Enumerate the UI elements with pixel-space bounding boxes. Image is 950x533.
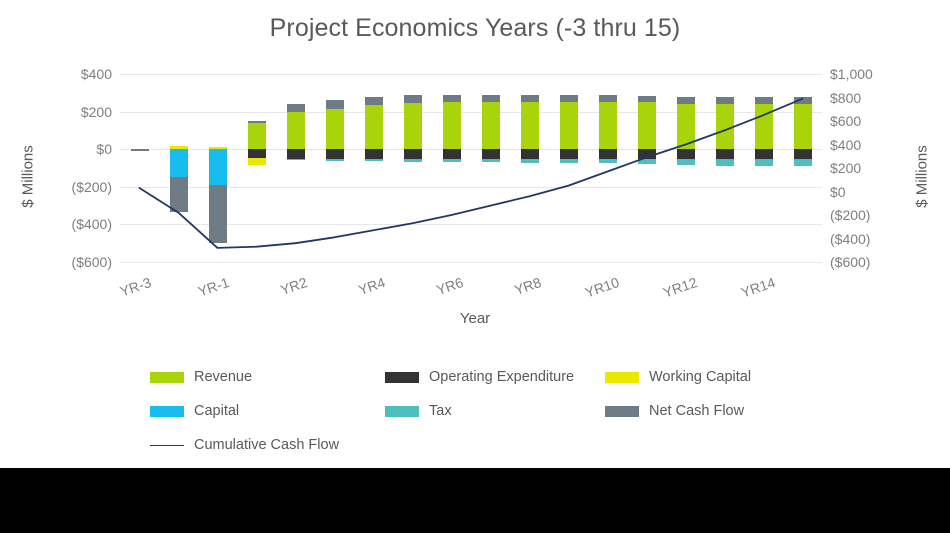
legend-color-swatch <box>385 372 419 383</box>
cumulative-cash-flow-line <box>120 74 822 262</box>
legend-label: Working Capital <box>649 369 751 385</box>
y-axis-right-title: $ Millions <box>914 127 931 227</box>
slide-canvas: Project Economics Years (-3 thru 15) $ M… <box>0 0 950 533</box>
y-axis-left-tick-label: $0 <box>26 142 112 156</box>
legend-item[interactable]: Tax <box>385 394 452 428</box>
letterbox-bar <box>0 468 950 533</box>
legend-item[interactable]: Capital <box>150 394 239 428</box>
x-axis-tick-label: YR8 <box>492 274 543 305</box>
y-axis-left-tick-label: ($600) <box>26 255 112 269</box>
legend-label: Tax <box>429 403 452 419</box>
page-title: Project Economics Years (-3 thru 15) <box>0 14 950 43</box>
chart-legend: RevenueOperating ExpenditureWorking Capi… <box>150 360 810 462</box>
x-axis-tick-label: YR6 <box>414 274 465 305</box>
legend-row: RevenueOperating ExpenditureWorking Capi… <box>150 360 810 394</box>
plot-area <box>120 74 822 262</box>
y-axis-right-tick-label: $400 <box>830 138 916 152</box>
legend-label: Operating Expenditure <box>429 369 574 385</box>
y-axis-right-tick-label: $1,000 <box>830 67 916 81</box>
x-axis-tick-label: YR14 <box>726 274 777 305</box>
legend-color-swatch <box>150 406 184 417</box>
chart-slide: Project Economics Years (-3 thru 15) $ M… <box>0 0 950 468</box>
y-axis-left-tick-label: ($200) <box>26 180 112 194</box>
y-axis-left-tick-label: $200 <box>26 105 112 119</box>
gridline <box>120 262 822 263</box>
x-axis-tick-label: YR10 <box>570 274 621 305</box>
x-axis-title: Year <box>0 310 950 327</box>
legend-color-swatch <box>385 406 419 417</box>
legend-color-swatch <box>605 372 639 383</box>
legend-color-swatch <box>150 372 184 383</box>
y-axis-right-tick-label: $0 <box>830 185 916 199</box>
y-axis-right-tick-label: ($600) <box>830 255 916 269</box>
legend-color-swatch <box>605 406 639 417</box>
x-axis-tick-label: YR2 <box>258 274 309 305</box>
legend-item[interactable]: Working Capital <box>605 360 751 394</box>
y-axis-right-tick-label: $200 <box>830 161 916 175</box>
legend-item[interactable]: Operating Expenditure <box>385 360 574 394</box>
y-axis-left-tick-label: ($400) <box>26 217 112 231</box>
legend-label: Net Cash Flow <box>649 403 744 419</box>
x-axis-tick-label: YR4 <box>336 274 387 305</box>
legend-row: CapitalTaxNet Cash Flow <box>150 394 810 428</box>
legend-label: Capital <box>194 403 239 419</box>
x-axis-tick-label: YR12 <box>648 274 699 305</box>
y-axis-right-tick-label: ($400) <box>830 232 916 246</box>
y-axis-right-tick-label: ($200) <box>830 208 916 222</box>
legend-item[interactable]: Net Cash Flow <box>605 394 744 428</box>
x-axis-tick-label: YR-1 <box>180 274 231 305</box>
legend-item[interactable]: Cumulative Cash Flow <box>150 428 339 462</box>
legend-row: Cumulative Cash Flow <box>150 428 810 462</box>
y-axis-right-tick-label: $600 <box>830 114 916 128</box>
legend-label: Revenue <box>194 369 252 385</box>
legend-item[interactable]: Revenue <box>150 360 252 394</box>
x-axis-tick-label: YR-3 <box>102 274 153 305</box>
y-axis-right-tick-label: $800 <box>830 91 916 105</box>
legend-label: Cumulative Cash Flow <box>194 437 339 453</box>
y-axis-left-tick-label: $400 <box>26 67 112 81</box>
legend-line-swatch <box>150 440 184 451</box>
